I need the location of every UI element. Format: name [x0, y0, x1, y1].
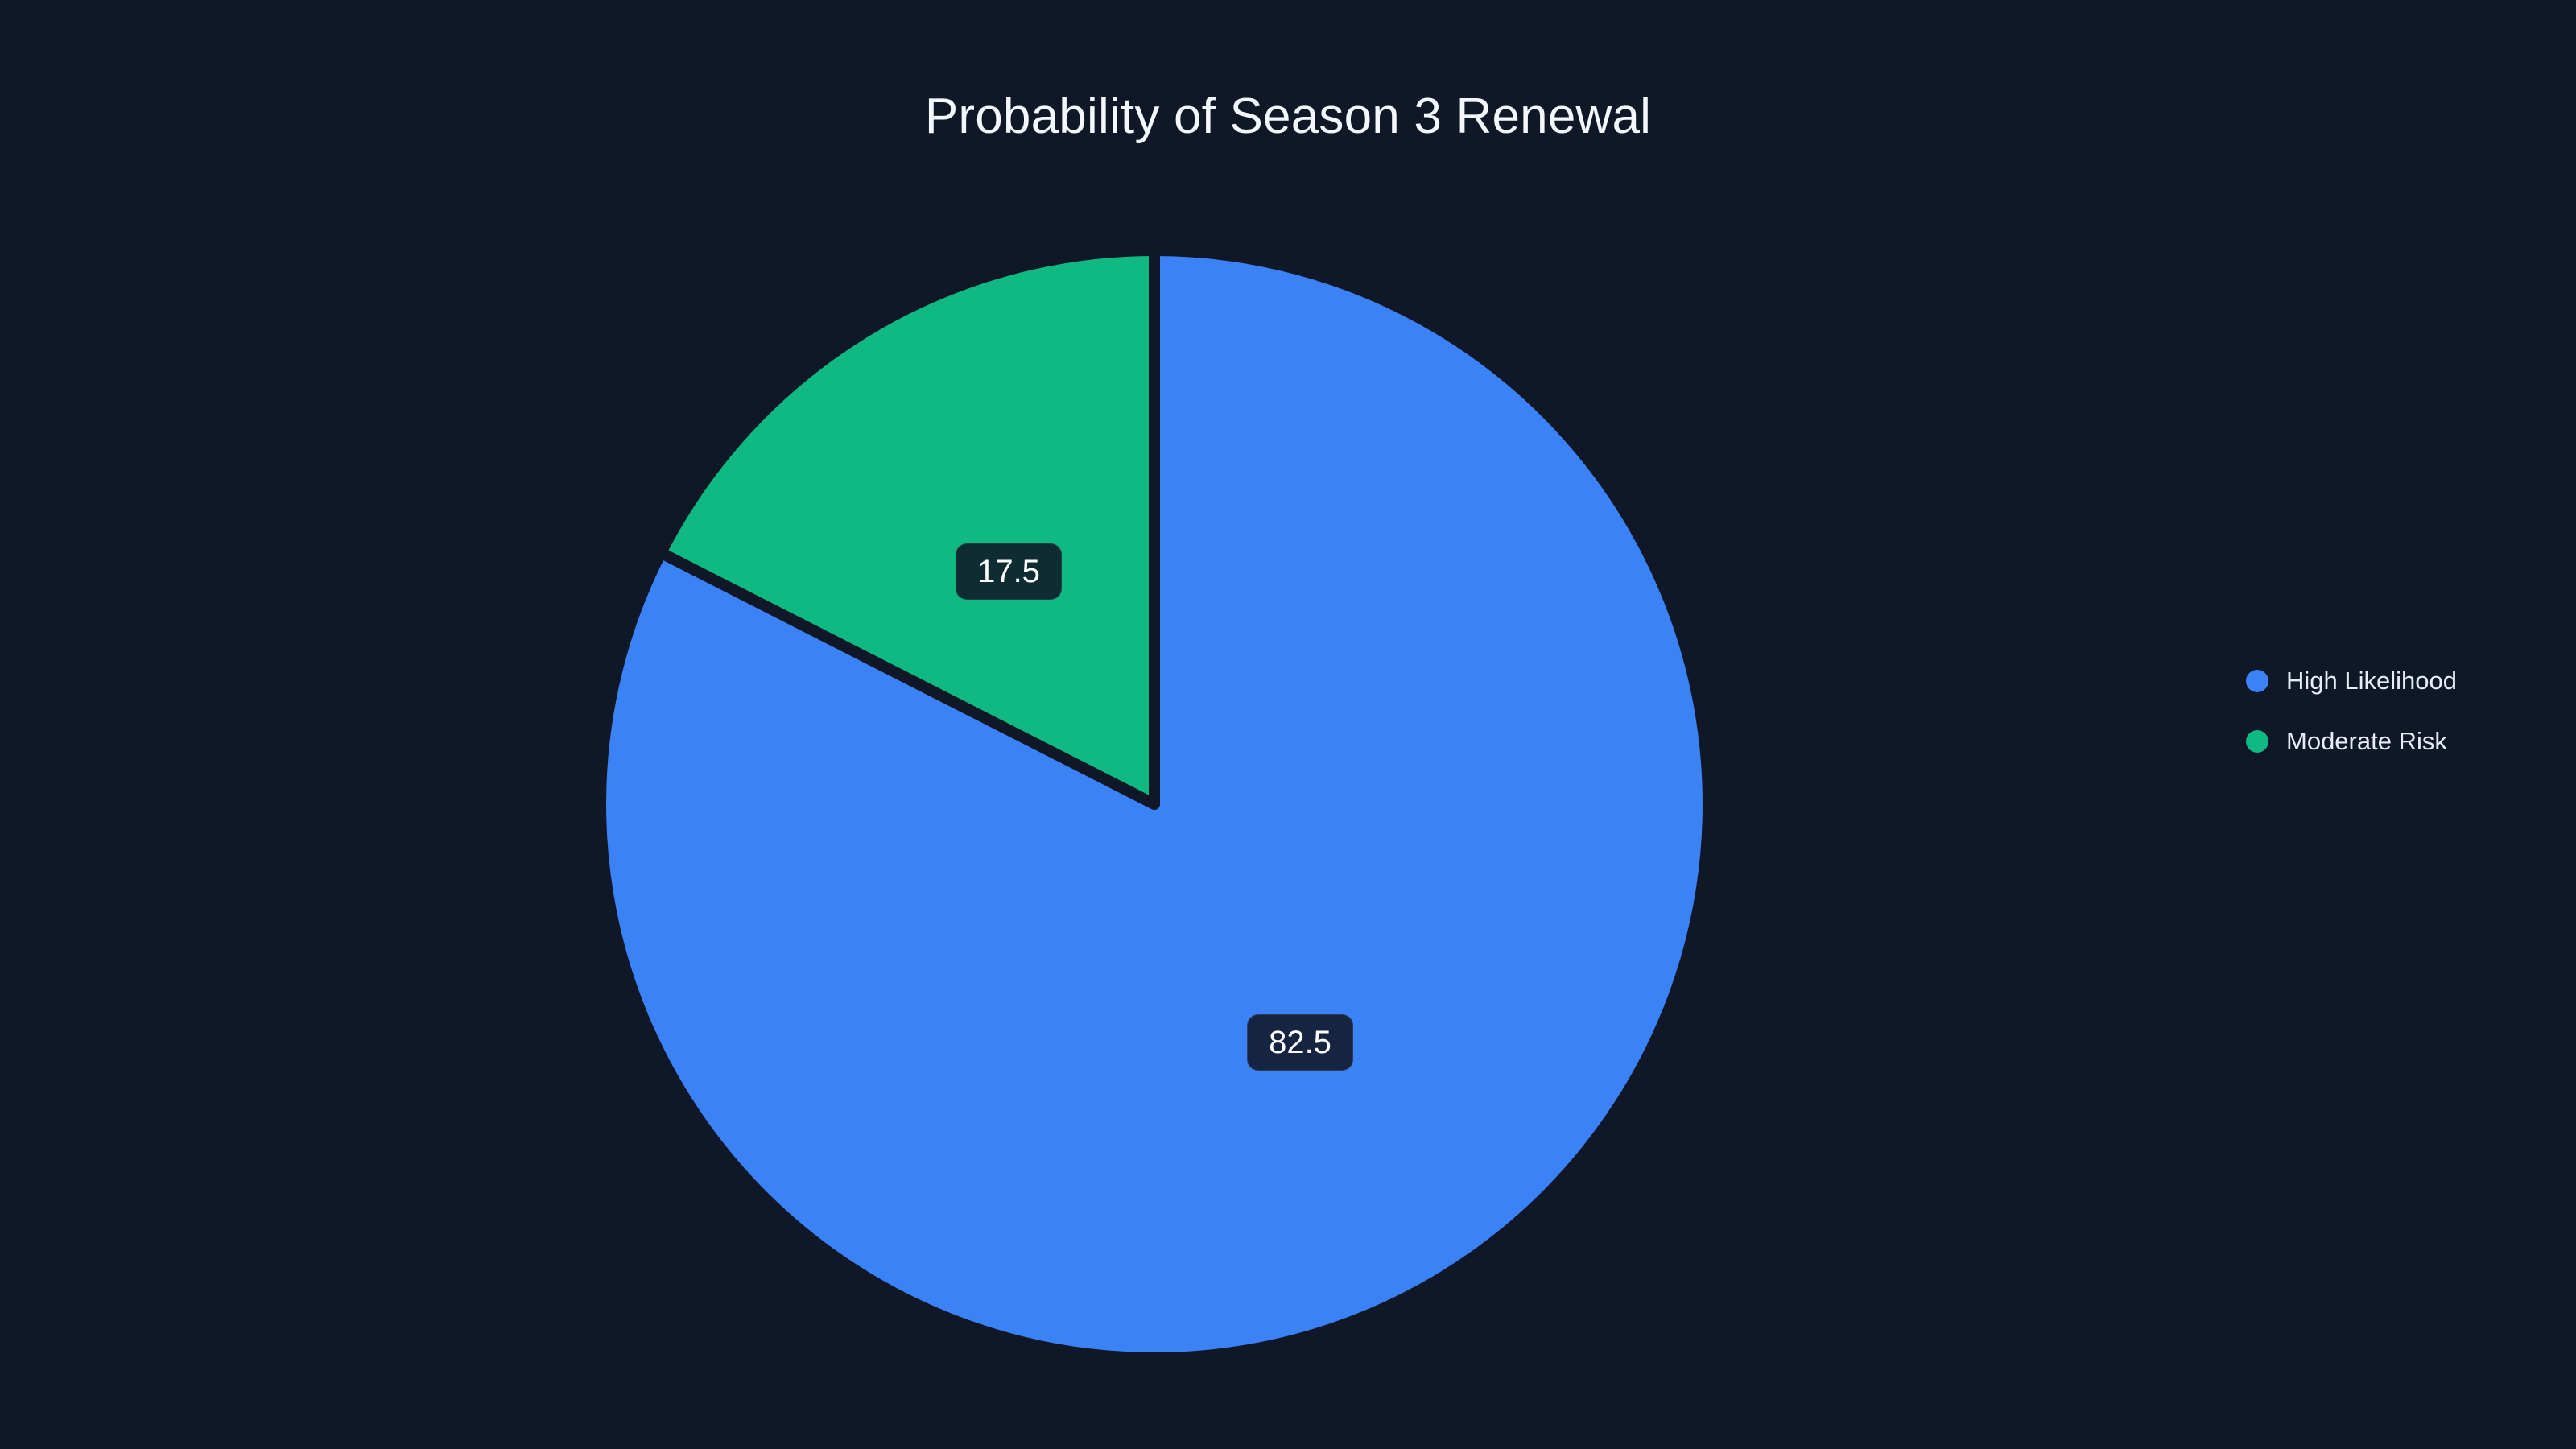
data-label-moderate-risk: 17.5 [956, 543, 1062, 600]
legend-item-moderate-risk[interactable]: Moderate Risk [2246, 729, 2457, 753]
chart-canvas: Probability of Season 3 Renewal 82.517.5… [0, 0, 2576, 1449]
chart-legend: High LikelihoodModerate Risk [2246, 668, 2457, 753]
pie-chart-svg [0, 0, 2576, 1449]
legend-item-high-likelihood[interactable]: High Likelihood [2246, 668, 2457, 693]
legend-swatch-icon [2246, 670, 2268, 692]
legend-label: High Likelihood [2286, 668, 2457, 693]
data-label-high-likelihood: 82.5 [1247, 1014, 1353, 1071]
legend-swatch-icon [2246, 730, 2268, 753]
legend-label: Moderate Risk [2286, 729, 2447, 753]
pie-slices-group [601, 250, 1708, 1358]
